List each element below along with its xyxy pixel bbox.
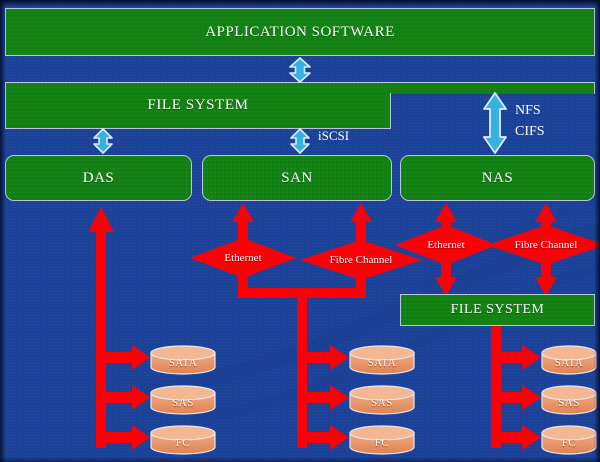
red-arrow-icon-das-trunk [88, 207, 114, 448]
transport-label-nas-fibre-channel: Fibre Channel [487, 225, 600, 265]
disk-cylinder-icon-san-fc: FC [349, 425, 415, 455]
double-headed-arrow-icon-fs-san [285, 127, 315, 155]
tier-label-das: DAS [83, 170, 115, 187]
double-headed-arrow-icon-fs-das [88, 127, 118, 155]
red-line-nas-trunk [491, 326, 501, 448]
disk-cylinder-icon-nas-fc: FC [541, 425, 597, 455]
diamond-node-icon-san-ethernet: Ethernet [190, 238, 296, 278]
red-arrow-icon-san-fc-up [350, 203, 372, 243]
red-arrow-icon-das-sata [101, 345, 150, 370]
double-headed-arrow-icon-app-fs [283, 56, 317, 84]
tier-label-nas: NAS [482, 170, 514, 187]
nas-file-system-label: FILE SYSTEM [451, 302, 545, 318]
disk-cylinder-icon-das-fc: FC [150, 425, 216, 455]
disk-label-das-sas: SAS [150, 385, 216, 415]
tier-box-nas: NAS [400, 155, 595, 201]
disk-cylinder-icon-das-sas: SAS [150, 385, 216, 415]
transport-label-san-ethernet: Ethernet [190, 238, 296, 278]
disk-cylinder-icon-nas-sas: SAS [541, 385, 597, 415]
red-arrow-icon-nas-ethernet-down [435, 262, 457, 296]
disk-cylinder-icon-das-sata: SATA [150, 345, 216, 375]
storage-architecture-diagram: APPLICATION SOFTWARE FILE SYSTEM iSCSI N… [0, 0, 600, 462]
disk-label-das-fc: FC [150, 425, 216, 455]
disk-label-nas-sas: SAS [541, 385, 597, 415]
disk-cylinder-icon-san-sas: SAS [349, 385, 415, 415]
double-headed-arrow-icon-fs-nas [478, 91, 512, 155]
application-software-box: APPLICATION SOFTWARE [5, 8, 595, 56]
file-system-label: FILE SYSTEM [147, 97, 248, 114]
diamond-node-icon-nas-fibre-channel: Fibre Channel [487, 225, 600, 265]
tier-box-das: DAS [5, 155, 192, 201]
disk-label-das-sata: SATA [150, 345, 216, 375]
red-arrow-icon-san-ethernet-up [232, 203, 254, 243]
disk-label-san-sata: SATA [349, 345, 415, 375]
application-software-label: APPLICATION SOFTWARE [205, 24, 395, 41]
disk-label-nas-fc: FC [541, 425, 597, 455]
nfs-label: NFS [515, 103, 541, 119]
red-arrow-icon-nas-fc-down [535, 262, 557, 296]
transport-label-nas-ethernet: Ethernet [395, 225, 497, 265]
disk-label-san-fc: FC [349, 425, 415, 455]
tier-box-san: SAN [202, 155, 392, 201]
diamond-node-icon-nas-ethernet: Ethernet [395, 225, 497, 265]
disk-label-san-sas: SAS [349, 385, 415, 415]
red-arrow-icon-das-sas [101, 385, 150, 410]
tier-label-san: SAN [281, 170, 313, 187]
iscsi-label: iSCSI [318, 128, 349, 144]
disk-cylinder-icon-nas-sata: SATA [541, 345, 597, 375]
disk-cylinder-icon-san-sata: SATA [349, 345, 415, 375]
cifs-label: CIFS [515, 124, 545, 140]
red-line-san-trunk [297, 288, 307, 448]
red-arrow-icon-das-fc [101, 425, 150, 450]
disk-label-nas-sata: SATA [541, 345, 597, 375]
nas-file-system-box: FILE SYSTEM [400, 294, 595, 326]
